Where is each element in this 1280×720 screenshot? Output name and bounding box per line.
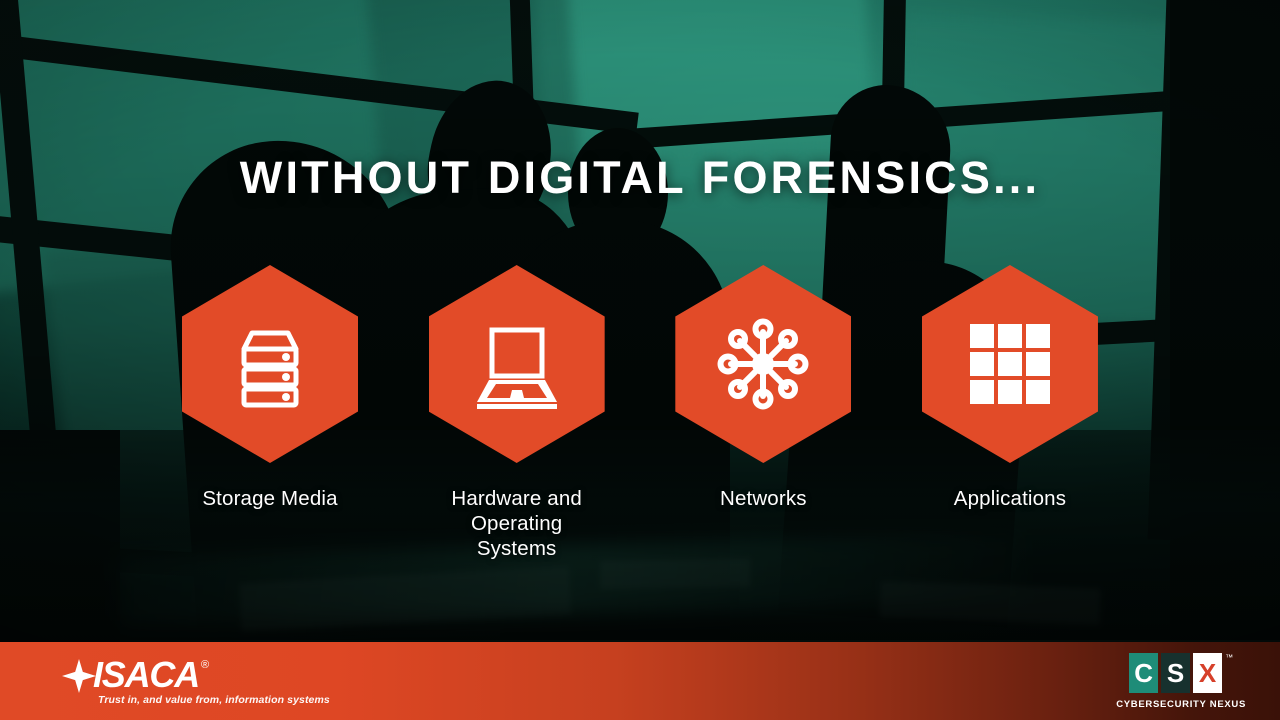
- csx-tiles: C S X ™: [1129, 653, 1233, 693]
- footer-bar: ISACA ® Trust in, and value from, inform…: [0, 642, 1280, 720]
- app-grid-icon: [964, 318, 1056, 410]
- csx-logo[interactable]: C S X ™ CYBERSECURITY NEXUS: [1116, 653, 1246, 710]
- server-rack-icon: [222, 316, 318, 412]
- category-item-hardware-os[interactable]: Hardware and Operating Systems: [417, 265, 617, 561]
- laptop-icon: [469, 316, 565, 412]
- category-label: Storage Media: [202, 486, 337, 511]
- four-point-star-icon: [62, 659, 96, 693]
- hexagon-badge[interactable]: [182, 265, 358, 463]
- category-label: Applications: [954, 486, 1066, 511]
- presentation-slide: WITHOUT DIGITAL FORENSICS... Storage: [0, 0, 1280, 720]
- isaca-wordmark: ISACA: [93, 657, 199, 693]
- hexagon-badge[interactable]: [675, 265, 851, 463]
- slide-title: WITHOUT DIGITAL FORENSICS...: [0, 152, 1280, 204]
- csx-subtitle: CYBERSECURITY NEXUS: [1116, 699, 1246, 710]
- category-label: Hardware and Operating Systems: [451, 486, 582, 561]
- category-label: Networks: [720, 486, 807, 511]
- isaca-tagline: Trust in, and value from, information sy…: [98, 694, 330, 706]
- csx-tile-x: X: [1193, 653, 1222, 693]
- registered-mark: ®: [201, 659, 209, 672]
- isaca-logo[interactable]: ISACA ® Trust in, and value from, inform…: [62, 657, 330, 706]
- category-row: Storage Media Hardware and Operating Sys…: [170, 265, 1110, 561]
- csx-tile-s: S: [1161, 653, 1190, 693]
- category-item-networks[interactable]: Networks: [663, 265, 863, 511]
- hexagon-badge[interactable]: [429, 265, 605, 463]
- category-item-storage-media[interactable]: Storage Media: [170, 265, 370, 511]
- hexagon-badge[interactable]: [922, 265, 1098, 463]
- csx-tile-c: C: [1129, 653, 1158, 693]
- isaca-wordmark-row: ISACA ®: [62, 657, 209, 693]
- category-item-applications[interactable]: Applications: [910, 265, 1110, 511]
- trademark-mark: ™: [1225, 654, 1233, 662]
- network-nodes-icon: [713, 314, 813, 414]
